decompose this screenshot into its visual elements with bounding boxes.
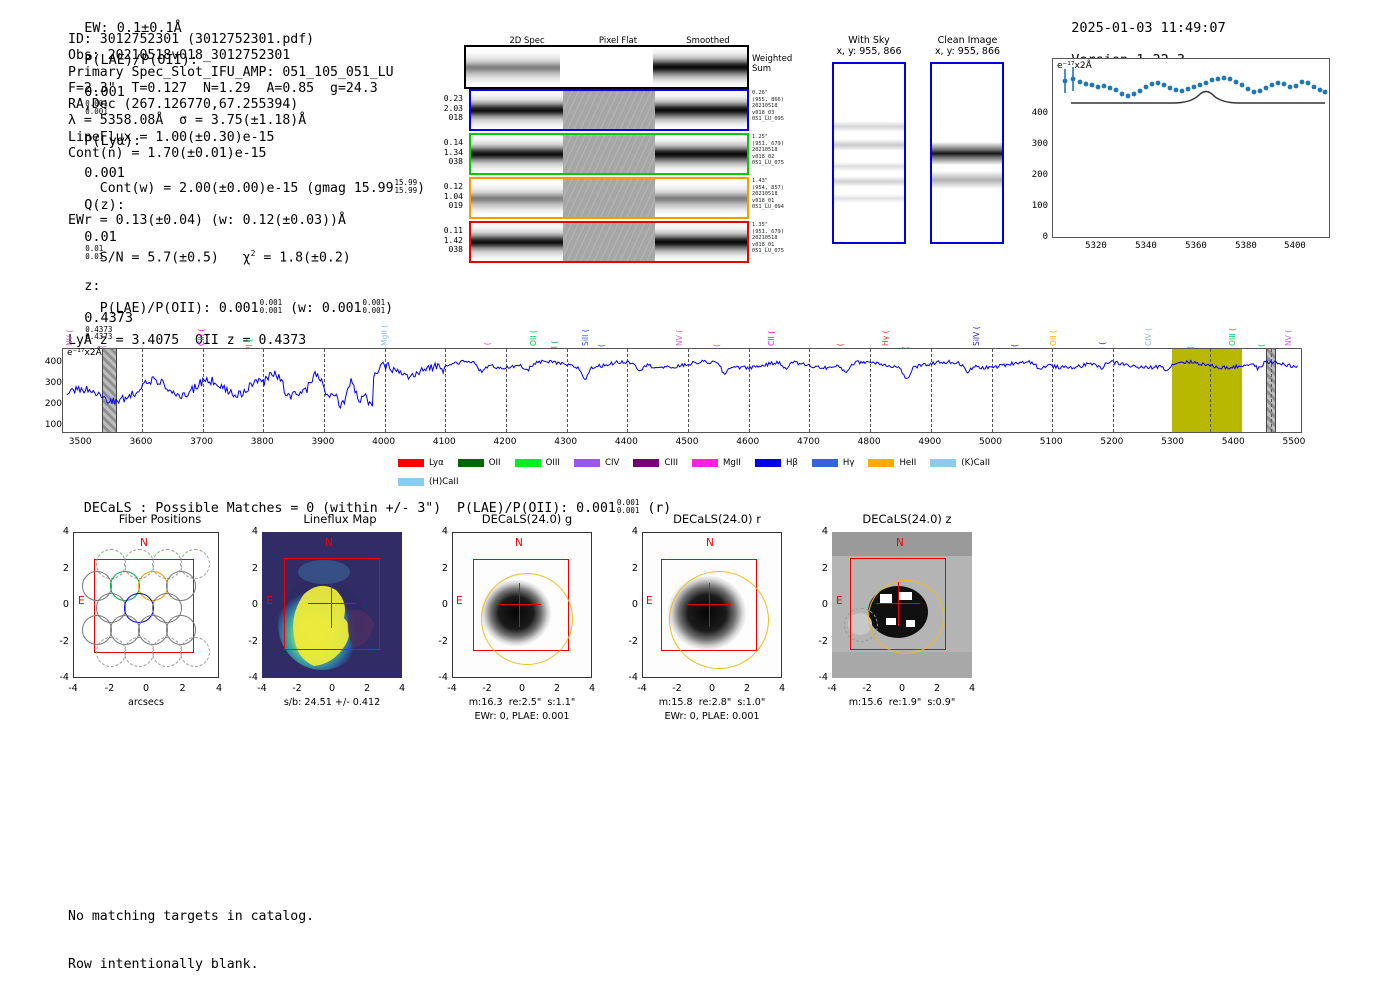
zoom-ytick-100: 100 [1020,201,1048,211]
cutout-row-3-left-values: 0.12 1.04 019 [430,182,463,211]
cutout-row-4-2dspec [471,223,563,261]
fiber-positions-image [73,532,219,678]
cutout-row-2-2dspec [471,135,563,173]
panel-1-xtick-3: 2 [354,683,380,694]
spectrum-xtick-4600: 4600 [728,437,768,447]
emission-line-label-0: NV ( [65,280,74,346]
panel-2-ytick-2: 0 [430,599,448,610]
panel-4-ytick-3: -2 [810,636,828,647]
spectrum-xtick-4700: 4700 [788,437,828,447]
panel-1-xtick-2: 0 [319,683,345,694]
spectrum-xtick-5200: 5200 [1092,437,1132,447]
decals-z-north-label: N [896,537,904,549]
panel-2-xtick-1: -2 [474,683,500,694]
legend-item-oiii: OIII [515,458,560,468]
cutout-row-1-left-values: 0.23 2.03 018 [430,94,463,123]
legend-swatch-9 [930,459,956,467]
panel-4-xtick-0: -4 [819,683,845,694]
info-lambda: λ = 5358.08Å σ = 3.75(±1.18)Å [68,113,425,129]
panel-4-xtick-2: 0 [889,683,915,694]
decals-r-caption2: EWr: 0, PLAE: 0.001 [632,711,792,723]
decals-z-east-label: E [836,595,843,607]
cutout-row-3-smoothed [655,179,747,217]
cutout-pixelflat-image [560,47,654,87]
cutout-2dspec-image [466,47,560,87]
panel-0-xtick-3: 2 [170,683,196,694]
zoom-exponent-label: e⁻¹⁷x2Å [1057,61,1092,71]
panel-4-xtick-3: 2 [924,683,950,694]
panel-title-decals-z: DECaLS(24.0) z [812,512,1002,526]
spectrum-xtick-3500: 3500 [60,437,100,447]
panel-1-ytick-0: 4 [240,526,258,537]
panel-0-ytick-0: 4 [51,526,69,537]
panel-4-ytick-0: 4 [810,526,828,537]
cutout-row-2-left-values: 0.14 1.34 038 [430,138,463,167]
legend-item-kcaii: (K)CaII [930,458,990,468]
zoom-fit-curve [1071,92,1325,104]
panel-2-ytick-1: 2 [430,563,448,574]
legend-label-6: Hβ [786,458,798,468]
emission-line-label-18: CII ( [767,280,776,346]
spec-ytick-400: 400 [30,357,62,367]
spectrum-xtick-4400: 4400 [606,437,646,447]
cutout-row-1 [469,89,749,131]
cutout-row-3-right-values: 1.43" (954, 857) 20210518 v018_01 051_LU… [752,178,812,211]
spectrum-xtick-4100: 4100 [424,437,464,447]
legend-item-hβ: Hβ [755,458,798,468]
decals-r-image [642,532,782,678]
panel-1-ytick-2: 0 [240,599,258,610]
decals-r-north-label: N [706,537,714,549]
zoom-ytick-400: 400 [1020,108,1048,118]
panel-1-xtick-4: 4 [389,683,415,694]
panel-3-ytick-0: 4 [620,526,638,537]
emission-line-label-24: SiIV ( [972,280,981,346]
cutout-weighted-sum-label: Weighted Sum [752,54,792,74]
lineflux-map-east-label: E [266,595,273,607]
emission-line-label-15: NV ( [675,280,684,346]
panel-3-xtick-3: 2 [734,683,760,694]
clean-image-title: Clean Image x, y: 955, 866 [920,35,1015,57]
legend-item-ciii: CIII [633,458,678,468]
legend-label-2: OIII [546,458,560,468]
legend-item-heii: HeII [868,458,916,468]
panel-3-ytick-4: -4 [620,672,638,683]
legend-label-9: (K)CaII [961,458,990,468]
info-id: ID: 3012752301 (3012752301.pdf) [68,32,425,48]
panel-title-decals-r: DECaLS(24.0) r [622,512,812,526]
cutout-row-3-2dspec [471,179,563,217]
legend-item-lyα: Lyα [398,458,444,468]
lineflux-map-north-label: N [325,537,333,549]
spectrum-xtick-5300: 5300 [1153,437,1193,447]
legend-swatch-4 [633,459,659,467]
spec-ytick-200: 200 [30,399,62,409]
fiber-positions-xlabel: arcsecs [73,697,219,709]
spectrum-xtick-4200: 4200 [485,437,525,447]
panel-3-xtick-0: -4 [629,683,655,694]
emission-line-label-36: NV ( [1284,280,1293,346]
legend-swatch-6 [755,459,781,467]
zoom-xtick-5400: 5400 [1275,241,1315,251]
cutout-row-2 [469,133,749,175]
decals-r-east-label: E [646,595,653,607]
spectrum-xtick-4800: 4800 [849,437,889,447]
emission-line-label-6: MgII ( [380,280,389,346]
spec-ytick-300: 300 [30,378,62,388]
info-obs: Obs: 20210518v018_3012752301 [68,48,425,64]
zoom-ytick-300: 300 [1020,139,1048,149]
full-spectrum-curve [63,349,1301,432]
panel-0-xtick-1: -2 [97,683,123,694]
legend-label-5: MgII [723,458,741,468]
cutout-row-2-smoothed [655,135,747,173]
zoom-spectrum-plot: 400 300 200 100 0 [1020,48,1340,258]
legend-label-0: Lyα [429,458,444,468]
decals-g-caption2: EWr: 0, PLAE: 0.001 [442,711,602,723]
panel-4-ytick-2: 0 [810,599,828,610]
emission-line-label-30: CIV ( [1144,280,1153,346]
cutout-row-1-right-values: 0.26" (955, 866) 20210518 v018_03 051_LU… [752,90,812,123]
spectrum-xtick-4900: 4900 [910,437,950,447]
decals-g-north-label: N [515,537,523,549]
cutout-row-2-right-values: 1.25" (951, 679) 20210518 v018_02 051_LU… [752,134,812,167]
info-lineflux: LineFlux = 1.00(±0.30)e-15 [68,130,425,146]
cutout-row-4-left-values: 0.11 1.42 038 [430,226,463,255]
clean-image-image [930,62,1004,244]
panel-3-ytick-1: 2 [620,563,638,574]
spectrum-xtick-5400: 5400 [1213,437,1253,447]
spec-exponent-label: e⁻¹⁷x2Å [67,348,102,358]
legend-swatch-8 [868,459,894,467]
footer-note: No matching targets in catalog. Row inte… [68,876,314,990]
decals-g-east-label: E [456,595,463,607]
spectrum-xtick-4000: 4000 [364,437,404,447]
panel-4-ytick-4: -4 [810,672,828,683]
panel-4-ytick-1: 2 [810,563,828,574]
info-sn-chi2: S/N = 5.7(±0.5) χ2 = 1.8(±0.2) [68,229,425,282]
decals-header: DECaLS : Possible Matches = 0 (within +/… [68,484,671,516]
cutout-row-4 [469,221,749,263]
panel-3-xtick-4: 4 [769,683,795,694]
panel-3-ytick-3: -2 [620,636,638,647]
fiber-positions-north-label: N [140,537,148,549]
panel-0-xtick-0: -4 [60,683,86,694]
cutout-row-4-smoothed [655,223,747,261]
decals-g-caption: m:16.3 re:2.5" s:1.1" [442,697,602,709]
spectrum-xtick-4300: 4300 [546,437,586,447]
emission-line-label-3: CIII ( [197,280,206,346]
panel-0-xtick-4: 4 [206,683,232,694]
panel-0-ytick-1: 2 [51,563,69,574]
legend-swatch-3 [574,459,600,467]
legend-item-hγ: Hγ [812,458,855,468]
info-cont-w: Cont(w) = 2.00(±0.00)e-15 (gmag 15.9915.… [68,162,425,213]
decals-r-caption: m:15.8 re:2.8" s:1.0" [632,697,792,709]
panel-0-ytick-2: 0 [51,599,69,610]
spec-ytick-100: 100 [30,420,62,430]
zoom-spectrum-axes: e⁻¹⁷x2Å [1052,58,1330,238]
decals-g-image [452,532,592,678]
panel-4-xtick-1: -2 [854,683,880,694]
panel-3-xtick-2: 0 [699,683,725,694]
cutout-smoothed-image [653,47,747,87]
legend-item-mgii: MgII [692,458,741,468]
legend-label-3: CIV [605,458,619,468]
lineflux-map-image [262,532,402,678]
zoom-ytick-0: 0 [1020,232,1048,242]
cutout-row-1-pixelflat [563,91,655,129]
panel-3-xtick-1: -2 [664,683,690,694]
panel-1-ytick-4: -4 [240,672,258,683]
decals-z-image [832,532,972,678]
cutout-row-weighted-sum [464,45,749,89]
footer-line-1: No matching targets in catalog. [68,909,314,925]
spectrum-xtick-5000: 5000 [971,437,1011,447]
zoom-ytick-200: 200 [1020,170,1048,180]
emission-line-label-12: SiII ( [581,280,590,346]
spectrum-xtick-4500: 4500 [667,437,707,447]
legend-label-4: CIII [664,458,678,468]
panel-title-decals-g: DECaLS(24.0) g [432,512,622,526]
spectrum-xtick-5100: 5100 [1031,437,1071,447]
emission-line-label-21: Hγ ( [881,280,890,346]
legend-label-7: Hγ [843,458,855,468]
cutout-row-1-smoothed [655,91,747,129]
panel-0-ytick-3: -2 [51,636,69,647]
panel-4-xtick-4: 4 [959,683,985,694]
spectrum-xtick-3600: 3600 [121,437,161,447]
cutout-row-4-pixelflat [563,223,655,261]
legend-swatch-2 [515,459,541,467]
legend-label-8: HeII [899,458,916,468]
cutout-row-1-2dspec [471,91,563,129]
cutout-row-3-pixelflat [563,179,655,217]
zoom-xtick-5380: 5380 [1226,241,1266,251]
panel-2-xtick-4: 4 [579,683,605,694]
legend-item-oii: OII [458,458,501,468]
panel-3-ytick-2: 0 [620,599,638,610]
legend-label-1: OII [489,458,501,468]
spectrum-xtick-3900: 3900 [303,437,343,447]
report-datetime: 2025-01-03 11:49:07 [1071,20,1225,36]
panel-2-xtick-0: -4 [439,683,465,694]
legend-swatch-5 [692,459,718,467]
info-radec: RA,Dec (267.126770,67.255394) [68,97,425,113]
legend-item-civ: CIV [574,458,619,468]
legend-swatch-7 [812,459,838,467]
emission-line-label-33: OIII ( [1228,280,1237,346]
panel-title-lineflux-map: Lineflux Map [245,512,435,526]
emission-line-label-27: OII ( [1049,280,1058,346]
panel-0-xtick-2: 0 [133,683,159,694]
legend-swatch-0 [398,459,424,467]
cutout-row-3 [469,177,749,219]
zoom-xtick-5340: 5340 [1126,241,1166,251]
info-ewr: EWr = 0.13(±0.04) (w: 0.12(±0.03))Å [68,213,425,229]
cutout-row-2-pixelflat [563,135,655,173]
with-sky-title: With Sky x, y: 955, 866 [824,35,914,57]
zoom-flux-points [1063,76,1328,99]
zoom-xtick-5320: 5320 [1076,241,1116,251]
panel-1-ytick-1: 2 [240,563,258,574]
panel-1-xtick-1: -2 [284,683,310,694]
info-seeing: F=2.3" T=0.127 N=1.29 A=0.85 g=24.3 [68,81,425,97]
panel-1-ytick-3: -2 [240,636,258,647]
panel-0-ytick-4: -4 [51,672,69,683]
info-cont-n: Cont(n) = 1.70(±0.01)e-15 [68,146,425,162]
panel-2-xtick-2: 0 [509,683,535,694]
spectrum-xtick-3800: 3800 [242,437,282,447]
spectrum-xtick-3700: 3700 [182,437,222,447]
panel-1-xtick-0: -4 [249,683,275,694]
cutout-row-4-right-values: 1.35" (951, 679) 20210518 v018_01 051_LU… [752,222,812,255]
zoom-xtick-5360: 5360 [1176,241,1216,251]
fiber-positions-east-label: E [78,595,85,607]
panel-2-ytick-3: -2 [430,636,448,647]
legend-swatch-1 [458,459,484,467]
info-primary-spec: Primary Spec_Slot_IFU_AMP: 051_105_051_L… [68,65,425,81]
panel-2-ytick-4: -4 [430,672,448,683]
full-spectrum-axes: e⁻¹⁷x2Å [62,348,1302,433]
with-sky-image [832,62,906,244]
lineflux-map-caption: s/b: 24.51 +/- 0.412 [262,697,402,709]
spectrum-xtick-5500: 5500 [1274,437,1314,447]
panel-2-xtick-3: 2 [544,683,570,694]
info-gmag-range: 15.9915.99 [395,179,418,195]
panel-2-ytick-0: 4 [430,526,448,537]
panel-title-fiber-positions: Fiber Positions [65,512,255,526]
decals-z-caption: m:15.6 re:1.9" s:0.9" [822,697,982,709]
emission-line-label-9: OII ( [529,280,538,346]
info-plae-range: 0.0010.001 [260,299,283,315]
footer-line-2: Row intentionally blank. [68,957,314,973]
